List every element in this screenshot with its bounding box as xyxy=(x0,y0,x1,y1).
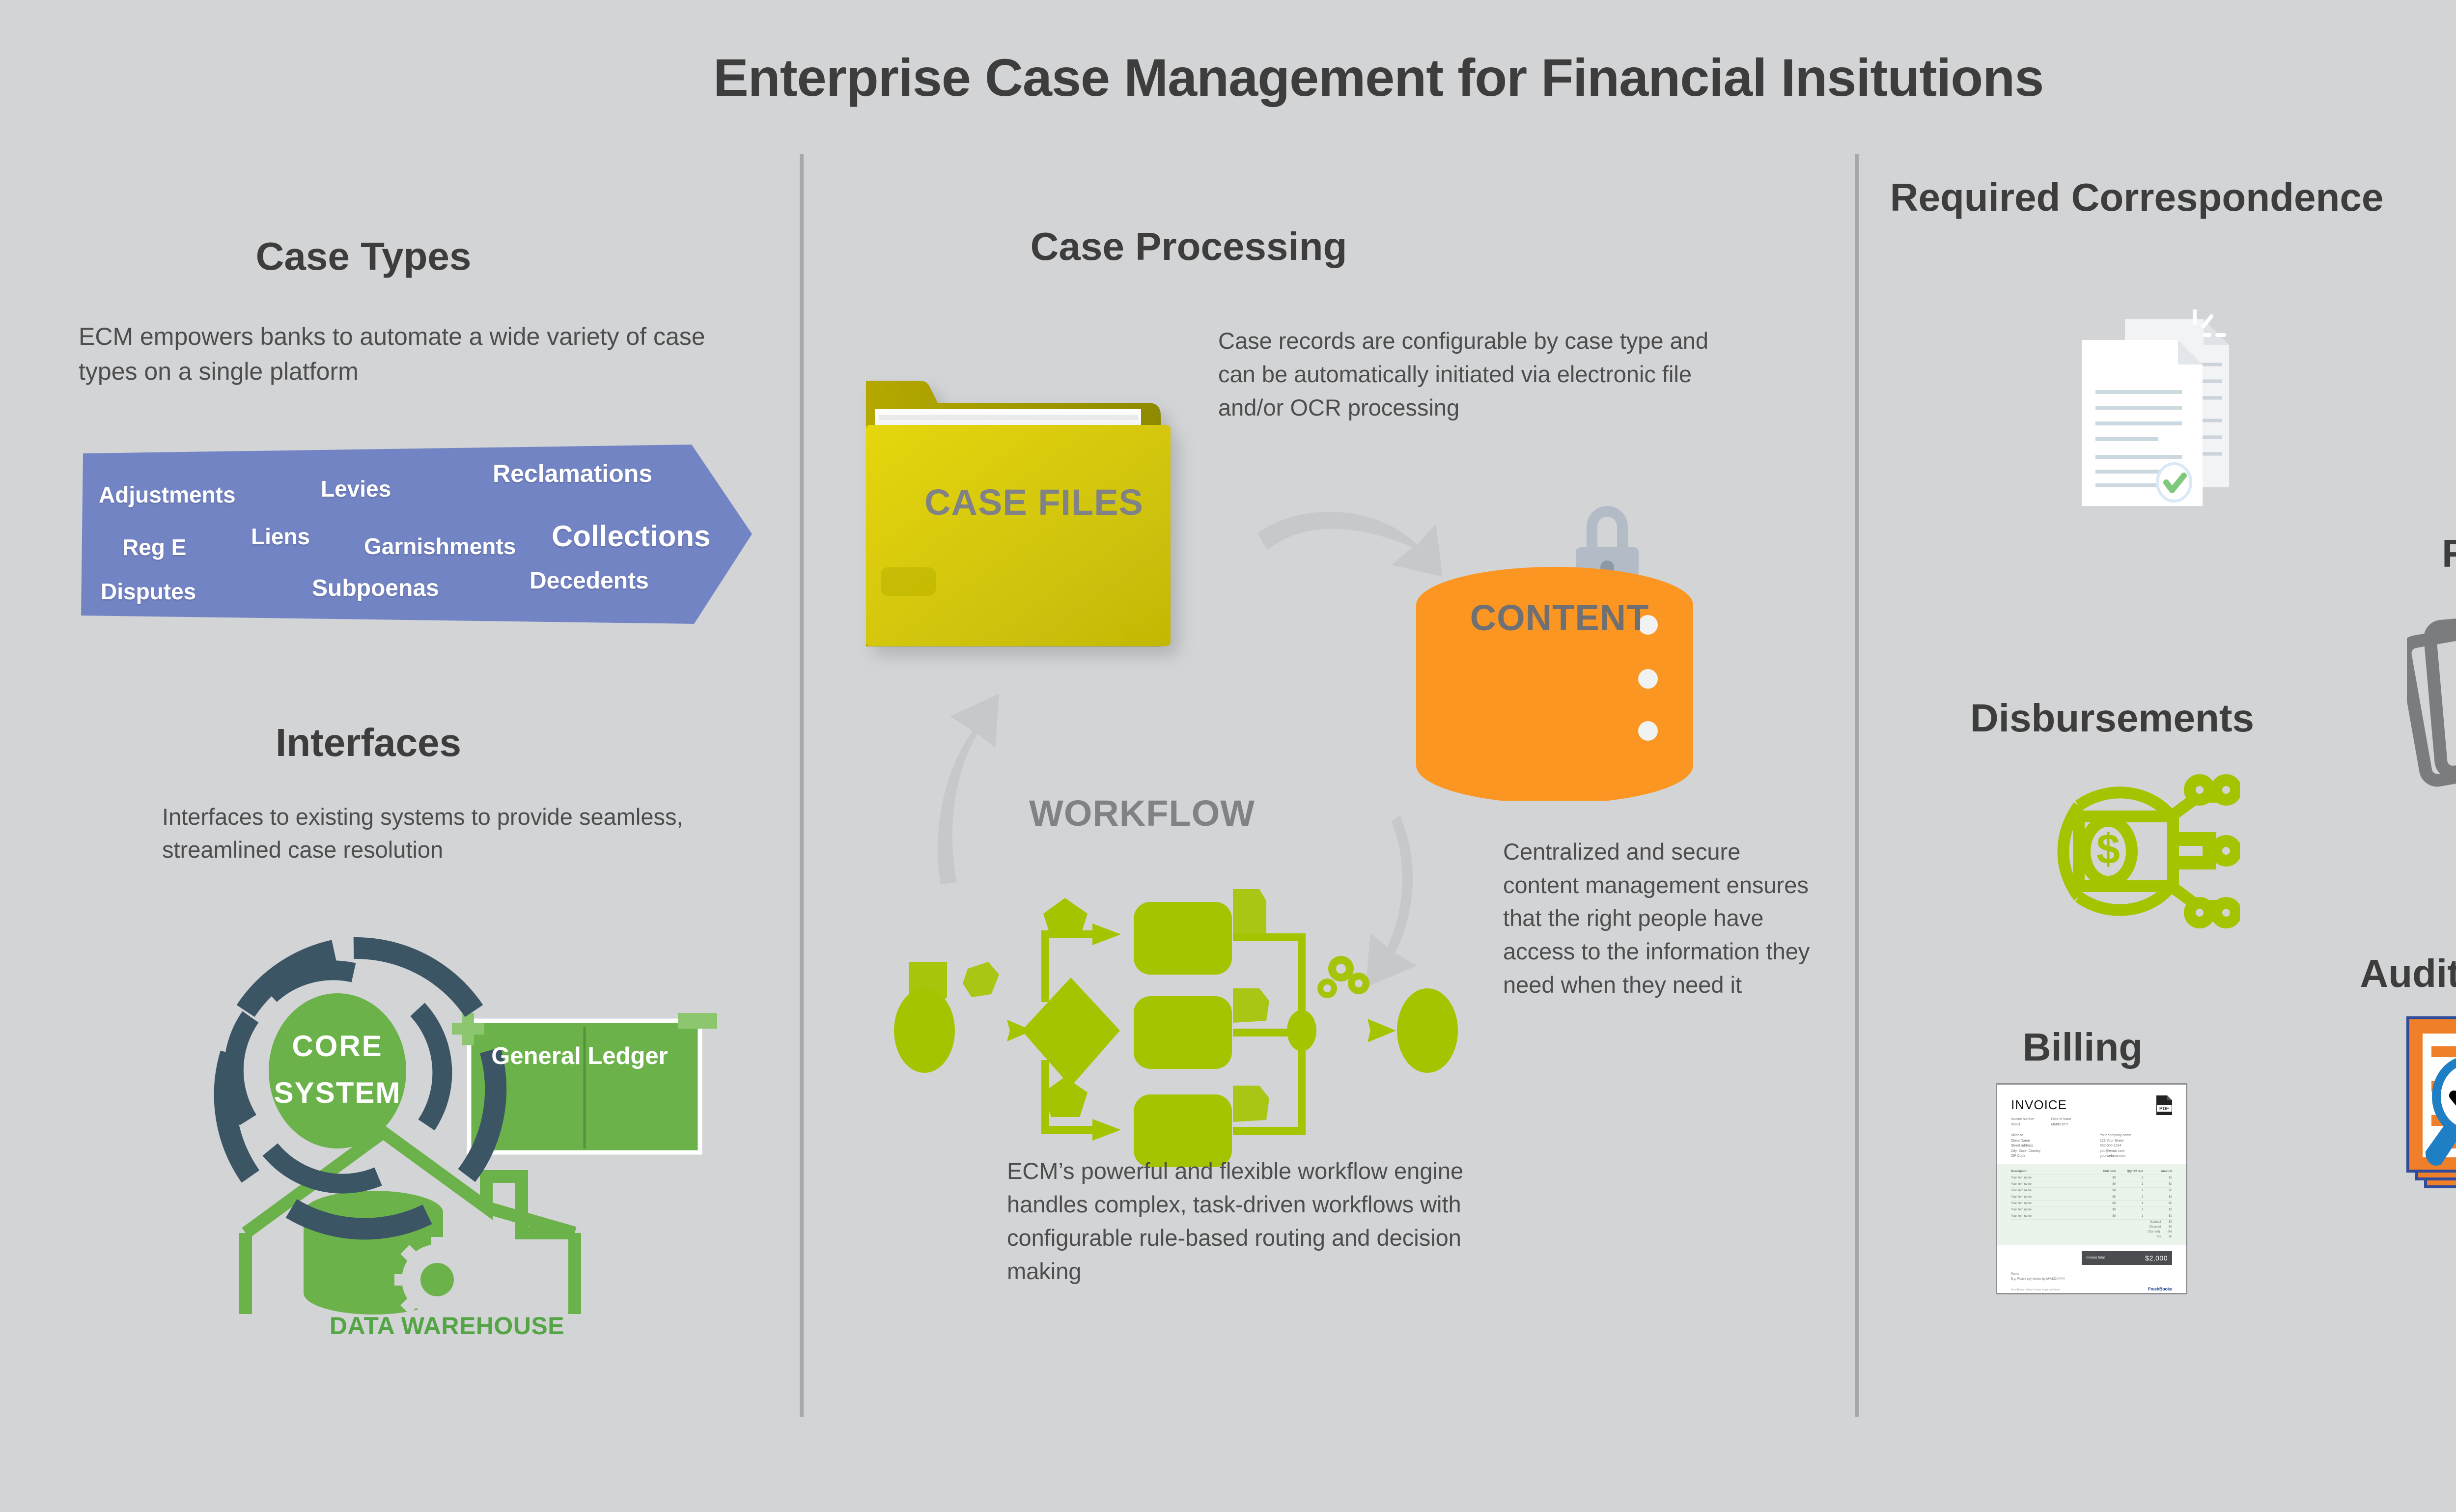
table-row: Your item name$01$0 xyxy=(2011,1207,2172,1213)
case-type-item-decedents: Decedents xyxy=(530,567,649,594)
interfaces-description: Interfaces to existing systems to provid… xyxy=(162,801,693,866)
case-type-item-reclamations: Reclamations xyxy=(493,459,652,488)
billed-to-line-2: City, State, Country xyxy=(2011,1149,2083,1154)
table-row: Your item name$01$0 xyxy=(2011,1213,2172,1220)
pdf-badge-icon: PDF xyxy=(2155,1094,2173,1116)
general-ledger-label: General Ledger xyxy=(472,1041,688,1071)
disbursements-heading: Disbursements xyxy=(1906,695,2318,741)
case-type-item-rege: Reg E xyxy=(122,534,186,560)
table-row: Your item name$01$0 xyxy=(2011,1181,2172,1188)
workflow-description: ECM’s powerful and flexible workflow eng… xyxy=(1007,1154,1533,1288)
case-type-item-garnishments: Garnishments xyxy=(364,533,516,560)
page-title: Enterprise Case Management for Financial… xyxy=(0,47,2456,108)
from-line-2: 000-000-1234 xyxy=(2100,1144,2172,1149)
case-files-label: CASE FILES xyxy=(857,481,1211,523)
table-row: Your item name$01$0 xyxy=(2011,1188,2172,1194)
table-row: Your item name$01$0 xyxy=(2011,1175,2172,1181)
table-row: Your item name$01$0 xyxy=(2011,1201,2172,1207)
case-type-item-collections: Collections xyxy=(552,519,710,553)
interfaces-diagram: CORE SYSTEM xyxy=(172,909,722,1361)
interfaces-heading: Interfaces xyxy=(118,720,619,766)
dollar-circuit-icon: $ xyxy=(2034,752,2240,948)
invoice-number-value: 00001 xyxy=(2011,1122,2035,1128)
invoice-icon: PDF INVOICE Invoice number 00001 Date of… xyxy=(1996,1083,2187,1294)
case-type-item-levies: Levies xyxy=(321,476,391,502)
case-types-description: ECM empowers banks to automate a wide va… xyxy=(79,319,747,389)
case-type-item-adjustments: Adjustments xyxy=(99,481,236,508)
billed-to-label: Billed to xyxy=(2011,1133,2083,1139)
from-line-3: you@email.com xyxy=(2100,1149,2172,1154)
audit-trail-heading: Audit Trail xyxy=(2309,951,2456,997)
workflow-gears-icon xyxy=(1317,956,1369,998)
case-type-item-liens: Liens xyxy=(251,523,310,550)
document-check-icon xyxy=(2053,309,2260,516)
invoice-date-value: MM/DD/YY xyxy=(2051,1122,2071,1128)
from-line-0: Your company name xyxy=(2100,1133,2172,1139)
invoice-date-label: Date of issue xyxy=(2051,1117,2071,1122)
workflow-diagram xyxy=(889,855,1469,1174)
billing-heading: Billing xyxy=(1984,1024,2181,1070)
content-label: CONTENT xyxy=(1393,597,1727,639)
core-label: CORE xyxy=(292,1030,383,1063)
from-line-1: 123 Your Street xyxy=(2100,1139,2172,1144)
svg-text:PDF: PDF xyxy=(2159,1106,2169,1112)
case-type-item-subpoenas: Subpoenas xyxy=(312,575,439,602)
invoice-table-header: Description Unit cost Qty/HR rate Amount xyxy=(2011,1169,2172,1175)
from-line-4: yourwebsite.com xyxy=(2100,1154,2172,1159)
required-correspondence-heading: Required Correspondence xyxy=(1876,174,2397,221)
system-label: SYSTEM xyxy=(274,1076,401,1109)
gear-icon xyxy=(394,1237,480,1322)
freshbooks-logo: FreshBooks xyxy=(2148,1287,2172,1291)
table-row: Your item name$01$0 xyxy=(2011,1194,2172,1201)
workflow-task-2 xyxy=(1134,996,1232,1069)
case-records-description: Case records are configurable by case ty… xyxy=(1218,324,1739,424)
content-description: Centralized and secure content managemen… xyxy=(1503,835,1817,1001)
invoice-footer: FreshBooks makes it easier to get paid f… xyxy=(2011,1287,2172,1291)
case-processing-heading: Case Processing xyxy=(923,224,1454,270)
invoice-terms: Terms E.g. Please pay invoice by MM/DD/Y… xyxy=(2011,1272,2172,1282)
invoice-line-items: Description Unit cost Qty/HR rate Amount… xyxy=(1997,1164,2186,1245)
case-types-heading: Case Types xyxy=(88,233,639,280)
billed-to-line-0: Client Name xyxy=(2011,1139,2083,1144)
case-type-item-disputes: Disputes xyxy=(101,578,196,605)
invoice-total-box: Invoice total $2,000 xyxy=(2082,1251,2172,1265)
invoice-subtotal: Subtotal$0 xyxy=(2011,1220,2172,1225)
data-warehouse-label: DATA WAREHOUSE xyxy=(295,1312,599,1340)
core-system-center xyxy=(269,993,406,1148)
billed-to-line-1: Street address xyxy=(2011,1144,2083,1149)
magnifier-check-document-icon xyxy=(2397,1012,2456,1208)
invoice-tax-rate: (Tax rate)0% xyxy=(2011,1230,2172,1234)
invoice-discount: Discount$0 xyxy=(2011,1225,2172,1230)
case-files-folder-icon xyxy=(857,361,1211,685)
invoice-tax: Tax$0 xyxy=(2011,1234,2172,1239)
invoice-title: INVOICE xyxy=(2011,1097,2172,1113)
report-pages-chart-icon xyxy=(2407,587,2456,793)
workflow-end-node xyxy=(1397,988,1458,1073)
workflow-label: WORKFLOW xyxy=(1029,792,1334,834)
workflow-merge-node xyxy=(1287,1010,1316,1051)
reporting-heading: Reporting xyxy=(2387,531,2456,577)
workflow-task-1 xyxy=(1134,902,1232,975)
column-divider-right xyxy=(1855,154,1859,1417)
invoice-number-label: Invoice number xyxy=(2011,1117,2035,1122)
column-divider-left xyxy=(800,154,804,1417)
content-database-icon xyxy=(1393,496,1727,801)
workflow-decision xyxy=(1022,978,1120,1087)
billed-to-line-3: ZIP Code xyxy=(2011,1154,2083,1159)
dollar-sign: $ xyxy=(2096,826,2120,873)
case-types-chevron: Adjustments Levies Reclamations Reg E Li… xyxy=(80,445,753,624)
